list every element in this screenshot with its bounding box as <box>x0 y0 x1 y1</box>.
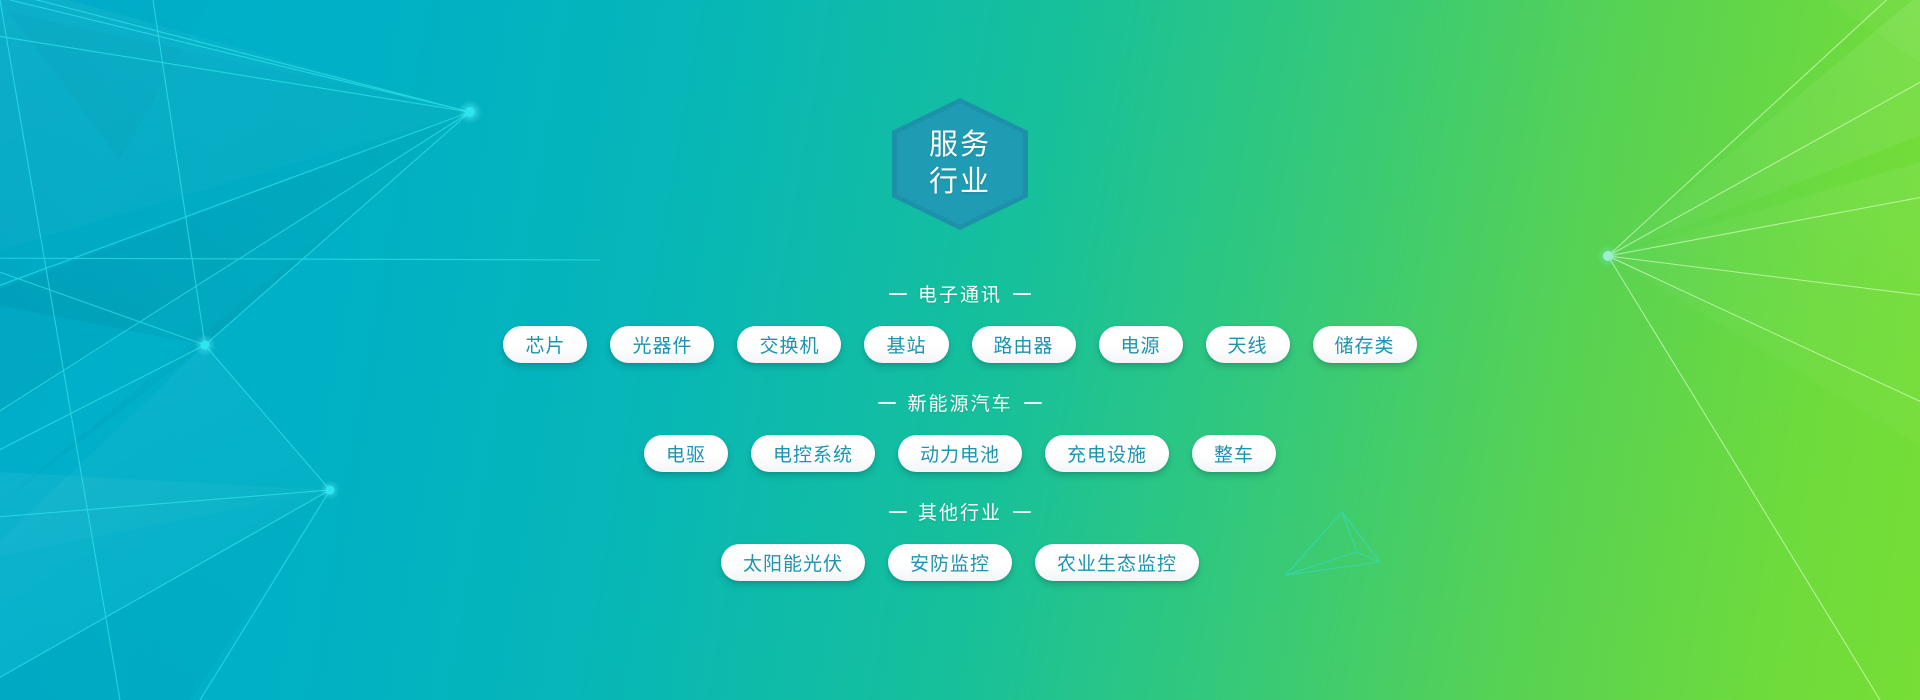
section-title: 电子通讯 <box>918 280 1002 307</box>
chip-item[interactable]: 光器件 <box>610 326 714 363</box>
chip-item[interactable]: 芯片 <box>503 326 587 363</box>
dash-right-icon <box>1013 293 1031 295</box>
banner-content: 服务 行业 电子通讯 芯片 光器件 交换机 基站 路由器 电源 天线 储存类 <box>0 0 1920 700</box>
dash-right-icon <box>1024 402 1042 404</box>
dash-left-icon <box>889 511 907 513</box>
service-industry-badge: 服务 行业 <box>892 98 1028 230</box>
chip-item[interactable]: 动力电池 <box>898 435 1022 472</box>
section-title: 新能源汽车 <box>907 389 1012 416</box>
chip-item[interactable]: 整车 <box>1192 435 1276 472</box>
chip-item[interactable]: 电源 <box>1099 326 1183 363</box>
dash-left-icon <box>878 402 896 404</box>
chip-item[interactable]: 电驱 <box>644 435 728 472</box>
section-header-new-energy-vehicles: 新能源汽车 <box>878 389 1041 416</box>
dash-left-icon <box>889 293 907 295</box>
chip-item[interactable]: 天线 <box>1206 326 1290 363</box>
badge-line-2: 行业 <box>929 164 991 201</box>
section-new-energy-vehicles: 新能源汽车 电驱 电控系统 动力电池 充电设施 整车 <box>0 363 1920 472</box>
chip-item[interactable]: 交换机 <box>737 326 841 363</box>
chip-item[interactable]: 基站 <box>864 326 948 363</box>
chip-item[interactable]: 农业生态监控 <box>1035 544 1199 581</box>
section-other-industries: 其他行业 太阳能光伏 安防监控 农业生态监控 <box>0 472 1920 581</box>
chip-item[interactable]: 太阳能光伏 <box>721 544 865 581</box>
chip-item[interactable]: 充电设施 <box>1045 435 1169 472</box>
section-electronics: 电子通讯 芯片 光器件 交换机 基站 路由器 电源 天线 储存类 <box>0 230 1920 363</box>
chip-item[interactable]: 储存类 <box>1313 326 1417 363</box>
chip-row-electronics: 芯片 光器件 交换机 基站 路由器 电源 天线 储存类 <box>503 326 1416 363</box>
section-header-other-industries: 其他行业 <box>889 498 1031 525</box>
chip-item[interactable]: 电控系统 <box>751 435 875 472</box>
badge-line-1: 服务 <box>929 127 991 164</box>
banner-stage: 服务 行业 电子通讯 芯片 光器件 交换机 基站 路由器 电源 天线 储存类 <box>0 0 1920 700</box>
chip-item[interactable]: 安防监控 <box>888 544 1012 581</box>
chip-row-other-industries: 太阳能光伏 安防监控 农业生态监控 <box>721 544 1199 581</box>
section-header-electronics: 电子通讯 <box>889 280 1031 307</box>
dash-right-icon <box>1013 511 1031 513</box>
chip-row-new-energy-vehicles: 电驱 电控系统 动力电池 充电设施 整车 <box>644 435 1276 472</box>
section-title: 其他行业 <box>918 498 1002 525</box>
badge-label: 服务 行业 <box>892 98 1028 230</box>
chip-item[interactable]: 路由器 <box>972 326 1076 363</box>
